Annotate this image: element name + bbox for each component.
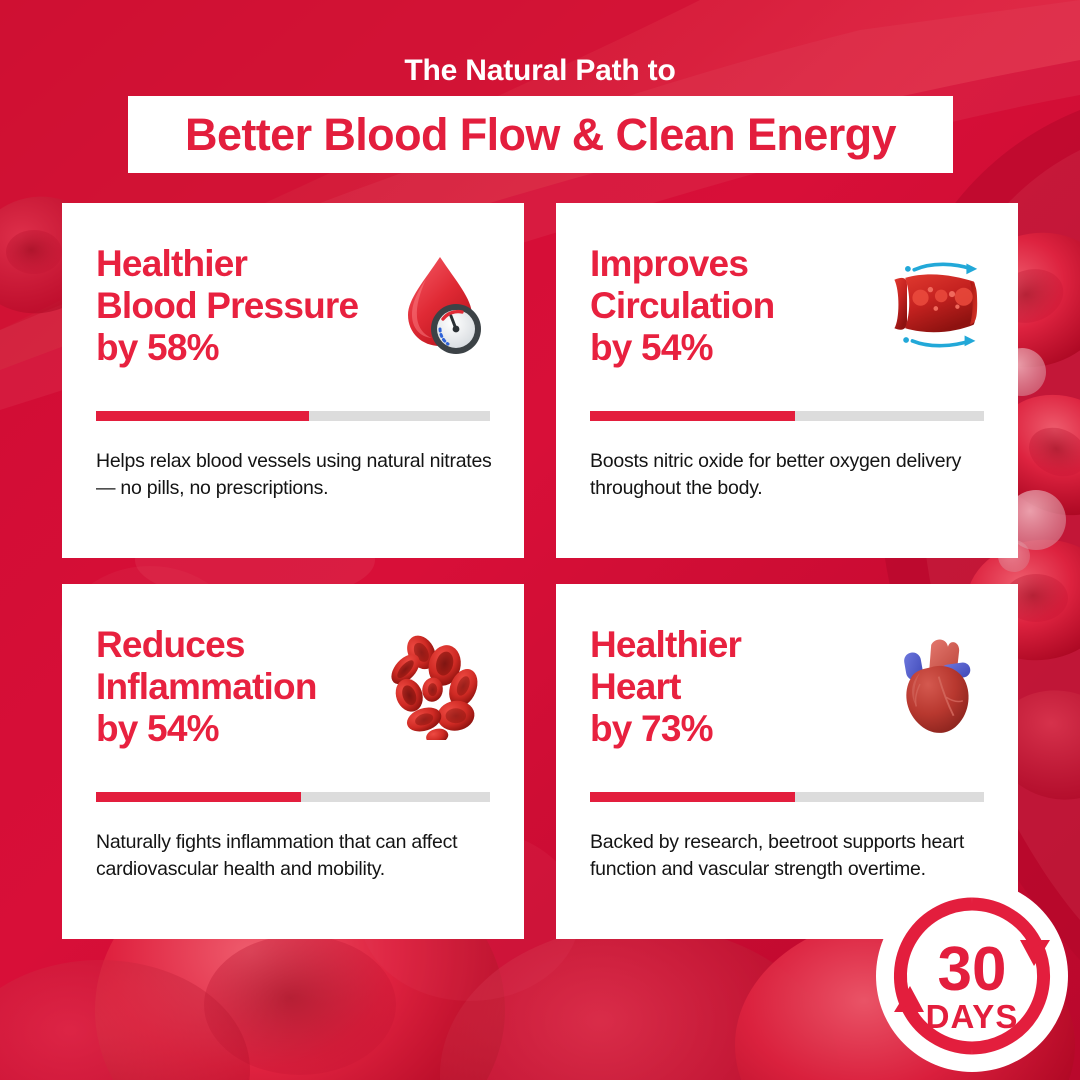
anatomical-heart-icon <box>880 630 988 740</box>
red-blood-cells-icon <box>386 630 494 740</box>
card-header: Improves Circulation by 54% <box>590 243 984 370</box>
thirty-days-badge: 30 DAYS <box>874 878 1070 1074</box>
card-header: Reduces Inflammation by 54% <box>96 624 490 751</box>
card-headline: Improves Circulation by 54% <box>590 243 774 370</box>
card-header: Healthier Blood Pressure by 58% <box>96 243 490 370</box>
progress-fill <box>96 411 309 421</box>
card-description: Boosts nitric oxide for better oxygen de… <box>590 448 988 502</box>
benefit-card-grid: Healthier Blood Pressure by 58% <box>62 203 1018 939</box>
benefit-card[interactable]: Improves Circulation by 54% <box>556 203 1018 558</box>
progress-track <box>96 792 490 802</box>
progress-track <box>590 411 984 421</box>
progress-track <box>96 411 490 421</box>
progress-fill <box>96 792 301 802</box>
card-header: Healthier Heart by 73% <box>590 624 984 751</box>
card-description: Naturally fights inflammation that can a… <box>96 829 494 883</box>
benefit-card[interactable]: Reduces Inflammation by 54% <box>62 584 524 939</box>
card-headline: Healthier Heart by 73% <box>590 624 741 751</box>
card-headline: Reduces Inflammation by 54% <box>96 624 317 751</box>
card-headline: Healthier Blood Pressure by 58% <box>96 243 358 370</box>
card-description: Backed by research, beetroot supports he… <box>590 829 988 883</box>
badge-number: 30 <box>938 935 1007 1004</box>
page-title: Better Blood Flow & Clean Energy <box>185 109 896 161</box>
header: The Natural Path to Better Blood Flow & … <box>0 0 1080 88</box>
blood-drop-pressure-gauge-icon <box>386 249 494 359</box>
progress-track <box>590 792 984 802</box>
title-band: Better Blood Flow & Clean Energy <box>128 96 953 173</box>
benefit-card[interactable]: Healthier Blood Pressure by 58% <box>62 203 524 558</box>
blood-vessel-flow-icon <box>880 249 988 359</box>
kicker-text: The Natural Path to <box>0 54 1080 88</box>
badge-unit: DAYS <box>926 998 1019 1035</box>
progress-fill <box>590 792 795 802</box>
progress-fill <box>590 411 795 421</box>
card-description: Helps relax blood vessels using natural … <box>96 448 494 502</box>
